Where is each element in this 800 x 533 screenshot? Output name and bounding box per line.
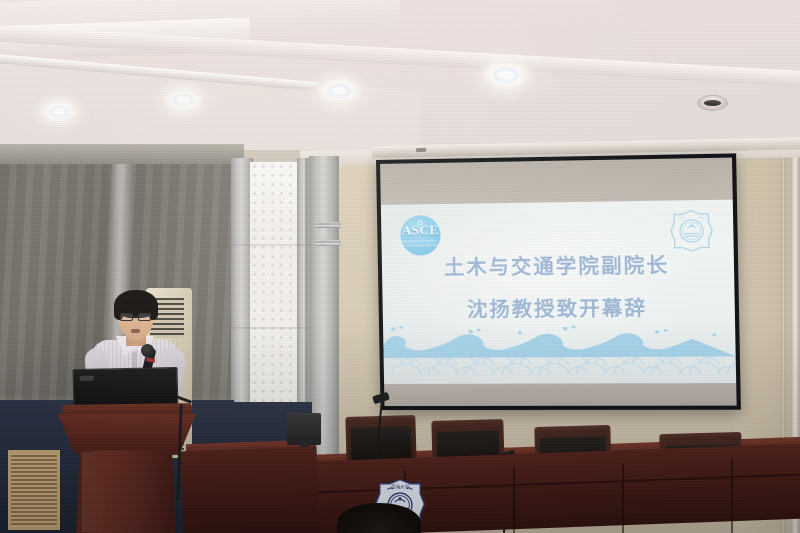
podium-highlight: [82, 452, 106, 532]
projection-screen-surface: ASCE AMERICAN SOCIETY OF CIVIL ENGINEERS…: [380, 158, 737, 406]
projection-screen[interactable]: ASCE AMERICAN SOCIETY OF CIVIL ENGINEERS…: [376, 153, 741, 410]
monitor-stand: [300, 441, 309, 447]
laptop-logo: [80, 376, 94, 381]
column-chrome-trim-1: [315, 222, 341, 228]
column-seam-2: [231, 244, 311, 246]
ceiling-downlight-3-halo: [296, 68, 382, 116]
presentation-slide: ASCE AMERICAN SOCIETY OF CIVIL ENGINEERS…: [381, 200, 736, 385]
asce-logo-dot: [418, 220, 423, 225]
presenter-glasses-right-lens: [138, 313, 151, 321]
hohai-seal-icon: [669, 209, 714, 252]
presenter-mouth: [131, 329, 140, 333]
conference-hall-photo: ASCE AMERICAN SOCIETY OF CIVIL ENGINEERS…: [0, 0, 800, 533]
curtain-rail: [0, 144, 244, 164]
stage-panel-seam-2: [513, 467, 515, 533]
presenter-glasses-left-lens: [120, 313, 133, 321]
microphone-windscreen: [141, 344, 154, 357]
screen-masking-bottom: [384, 383, 737, 406]
stage-panel-seam-3: [622, 463, 624, 533]
ceiling-recessed-fixture: [697, 95, 728, 111]
slide-title-line-1: 土木与交通学院副院长: [382, 249, 735, 283]
ceiling-downlight-2-halo: [146, 81, 220, 121]
asce-logo-subtitle: AMERICAN SOCIETY OF CIVIL ENGINEERS: [400, 239, 440, 248]
screen-housing-clip: [416, 148, 426, 152]
asce-logo: ASCE AMERICAN SOCIETY OF CIVIL ENGINEERS: [400, 215, 441, 256]
chinese-wave-decoration: [383, 321, 736, 384]
slide-title-block: 土木与交通学院副院长 沈扬教授致开幕辞: [382, 249, 735, 325]
wall-wooden-vent-grille: [8, 450, 60, 530]
column-seam-3: [231, 327, 311, 329]
screen-masking-top: [380, 158, 733, 205]
podium-shelf: [58, 414, 196, 454]
ceiling-downlight-4-halo: [458, 49, 554, 103]
ceiling-downlight-1-halo: [26, 94, 92, 130]
side-table-front: [181, 447, 320, 533]
column-panel-right: [309, 156, 339, 456]
presenter-glasses-bridge: [133, 316, 138, 317]
column-chrome-trim-2: [315, 240, 341, 246]
stage-panel-seam-4: [731, 459, 733, 533]
